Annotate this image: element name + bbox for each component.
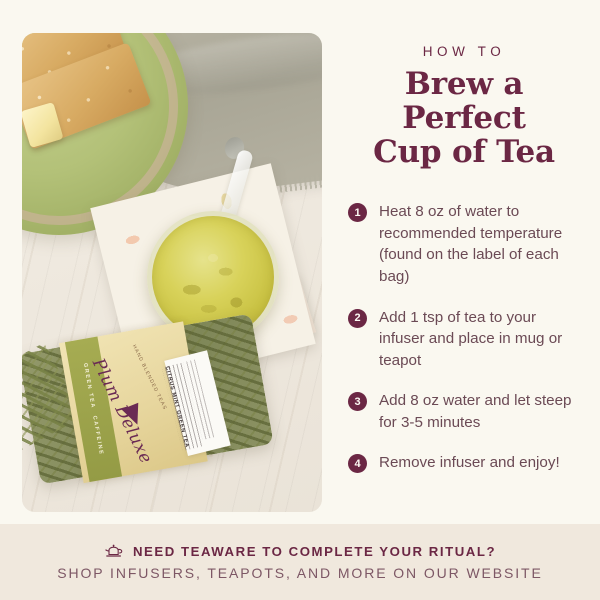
step-number-badge: 1 xyxy=(348,203,367,222)
step-text: Remove infuser and enjoy! xyxy=(379,452,560,474)
footer-banner: NEED TEAWARE TO COMPLETE YOUR RITUAL? SH… xyxy=(0,524,600,600)
pouch-band-text-2: CAFFEINE xyxy=(92,415,105,456)
footer-headline: NEED TEAWARE TO COMPLETE YOUR RITUAL? xyxy=(104,544,496,560)
instructions-column: HOW TO Brew a Perfect Cup of Tea 1 Heat … xyxy=(348,44,580,474)
step-number-badge: 2 xyxy=(348,309,367,328)
steps-list: 1 Heat 8 oz of water to recommended temp… xyxy=(348,201,580,474)
step-number-badge: 3 xyxy=(348,392,367,411)
page-title-line-2: Cup of Tea xyxy=(373,134,555,170)
pouch-brand-tagline: HAND BLENDED TEAS xyxy=(131,344,168,412)
list-item: 3 Add 8 oz water and let steep for 3-5 m… xyxy=(348,390,580,433)
footer-subtext: SHOP INFUSERS, TEAPOTS, AND MORE ON OUR … xyxy=(57,565,543,581)
page-title: Brew a Perfect Cup of Tea xyxy=(348,67,580,169)
list-item: 2 Add 1 tsp of tea to your infuser and p… xyxy=(348,307,580,372)
footer-headline-text: NEED TEAWARE TO COMPLETE YOUR RITUAL? xyxy=(133,544,496,559)
kicker-label: HOW TO xyxy=(348,44,580,59)
step-text: Add 1 tsp of tea to your infuser and pla… xyxy=(379,307,580,372)
teapot-icon xyxy=(104,544,124,560)
photo-scene: GREEN TEA CAFFEINE Plum Deluxe HAND BLEN… xyxy=(22,33,322,512)
hero-photo: GREEN TEA CAFFEINE Plum Deluxe HAND BLEN… xyxy=(22,33,322,512)
step-text: Add 8 oz water and let steep for 3-5 min… xyxy=(379,390,580,433)
list-item: 4 Remove infuser and enjoy! xyxy=(348,452,580,474)
poster: GREEN TEA CAFFEINE Plum Deluxe HAND BLEN… xyxy=(0,0,600,600)
page-title-line-1: Brew a Perfect xyxy=(402,66,525,136)
step-text: Heat 8 oz of water to recommended temper… xyxy=(379,201,580,287)
step-number-badge: 4 xyxy=(348,454,367,473)
list-item: 1 Heat 8 oz of water to recommended temp… xyxy=(348,201,580,287)
